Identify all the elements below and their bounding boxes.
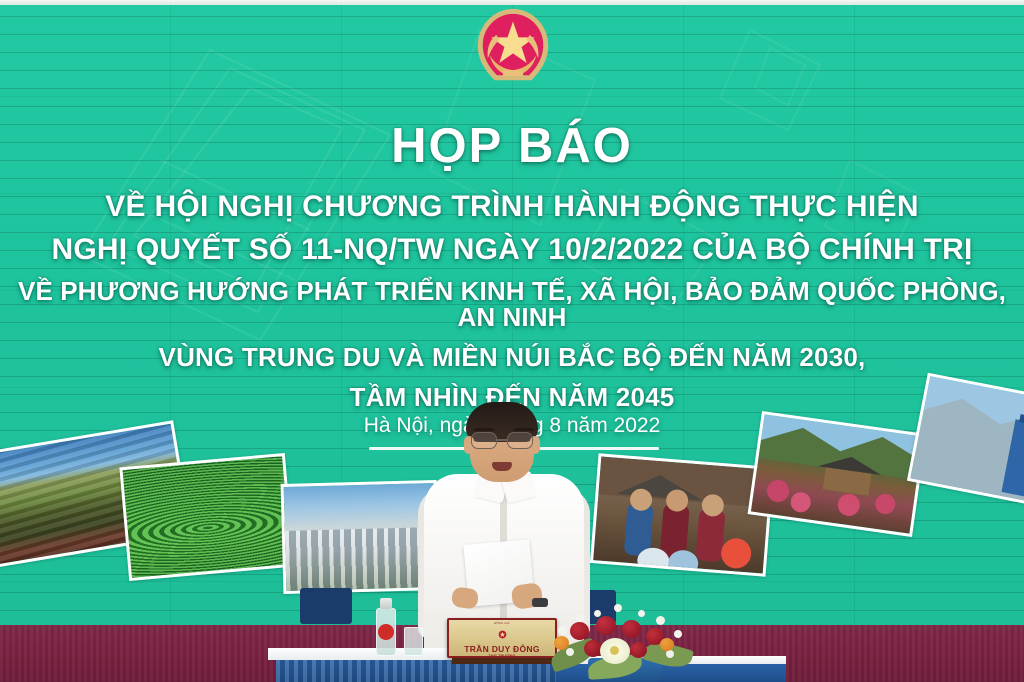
- led-screen-top-edge: [0, 0, 1024, 5]
- subtitle-line-4: VÙNG TRUNG DU VÀ MIỀN NÚI BẮC BỘ ĐẾN NĂM…: [0, 344, 1024, 370]
- drinking-glass: [404, 627, 423, 656]
- backdrop-headline-block: HỌP BÁO VỀ HỘI NGHỊ CHƯƠNG TRÌNH HÀNH ĐỘ…: [0, 122, 1024, 410]
- chair-left: [300, 588, 352, 624]
- flower-arrangement: [548, 596, 698, 682]
- eyebrow-right: [514, 428, 534, 431]
- subtitle-line-2: NGHỊ QUYẾT SỐ 11-NQ/TW NGÀY 10/2/2022 CỦ…: [0, 235, 1024, 265]
- nameplate-title: THỨ TRƯỞNG: [449, 654, 555, 658]
- photo-highland-children: [590, 453, 774, 576]
- eyeglasses-icon: [470, 432, 534, 450]
- wristwatch: [532, 598, 548, 607]
- nameplate-prefix: ĐỒNG CHÍ: [449, 623, 555, 626]
- photo-tea-plantation: [119, 453, 294, 581]
- speaker-nameplate: ĐỒNG CHÍ TRẦN DUY ĐÔNG THỨ TRƯỞNG BỘ KẾ …: [447, 618, 557, 658]
- vietnam-national-emblem: [471, 6, 555, 94]
- nameplate-emblem-icon: [498, 630, 507, 639]
- subtitle-line-3: VỀ PHƯƠNG HƯỚNG PHÁT TRIỂN KINH TẾ, XÃ H…: [0, 278, 1024, 330]
- photo-flag-tower: [907, 373, 1024, 510]
- subtitle-line-1: VỀ HỘI NGHỊ CHƯƠNG TRÌNH HÀNH ĐỘNG THỰC …: [0, 192, 1024, 222]
- event-title: HỌP BÁO: [0, 122, 1024, 171]
- water-bottle: [376, 598, 396, 656]
- eyebrow-left: [474, 428, 494, 431]
- mouth: [492, 462, 512, 471]
- press-conference-photo: HỌP BÁO VỀ HỘI NGHỊ CHƯƠNG TRÌNH HÀNH ĐỘ…: [0, 0, 1024, 682]
- nameplate-name: TRẦN DUY ĐÔNG: [449, 645, 555, 654]
- photo-mountain-village: [748, 411, 927, 537]
